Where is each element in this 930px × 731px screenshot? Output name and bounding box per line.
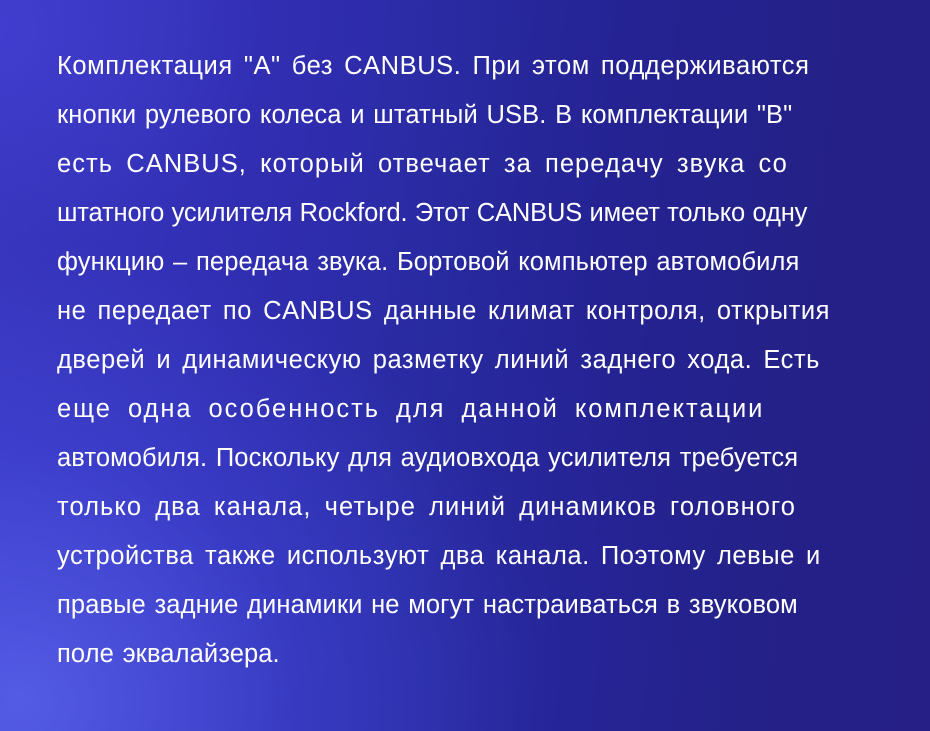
slide-canvas: Комплектация "А" без CANBUS. При этом по… (0, 0, 930, 731)
text-line: правые задние динамики не могут настраив… (57, 581, 873, 630)
text-line: есть CANBUS, который отвечает за передач… (57, 140, 873, 189)
text-line: автомобиля. Поскольку для аудиовхода уси… (57, 434, 873, 483)
text-line: дверей и динамическую разметку линий зад… (57, 336, 873, 385)
text-line: еще одна особенность для данной комплект… (57, 385, 873, 434)
body-text-block: Комплектация "А" без CANBUS. При этом по… (57, 42, 873, 679)
text-line: Комплектация "А" без CANBUS. При этом по… (57, 42, 873, 91)
text-line: штатного усилителя Rockford. Этот CANBUS… (57, 189, 873, 238)
text-line: кнопки рулевого колеса и штатный USB. В … (57, 91, 873, 140)
text-line: устройства также используют два канала. … (57, 532, 873, 581)
text-line: только два канала, четыре линий динамико… (57, 483, 873, 532)
text-line: не передает по CANBUS данные климат конт… (57, 287, 873, 336)
text-line: функцию – передача звука. Бортовой компь… (57, 238, 873, 287)
text-line: поле эквалайзера. (57, 630, 873, 679)
